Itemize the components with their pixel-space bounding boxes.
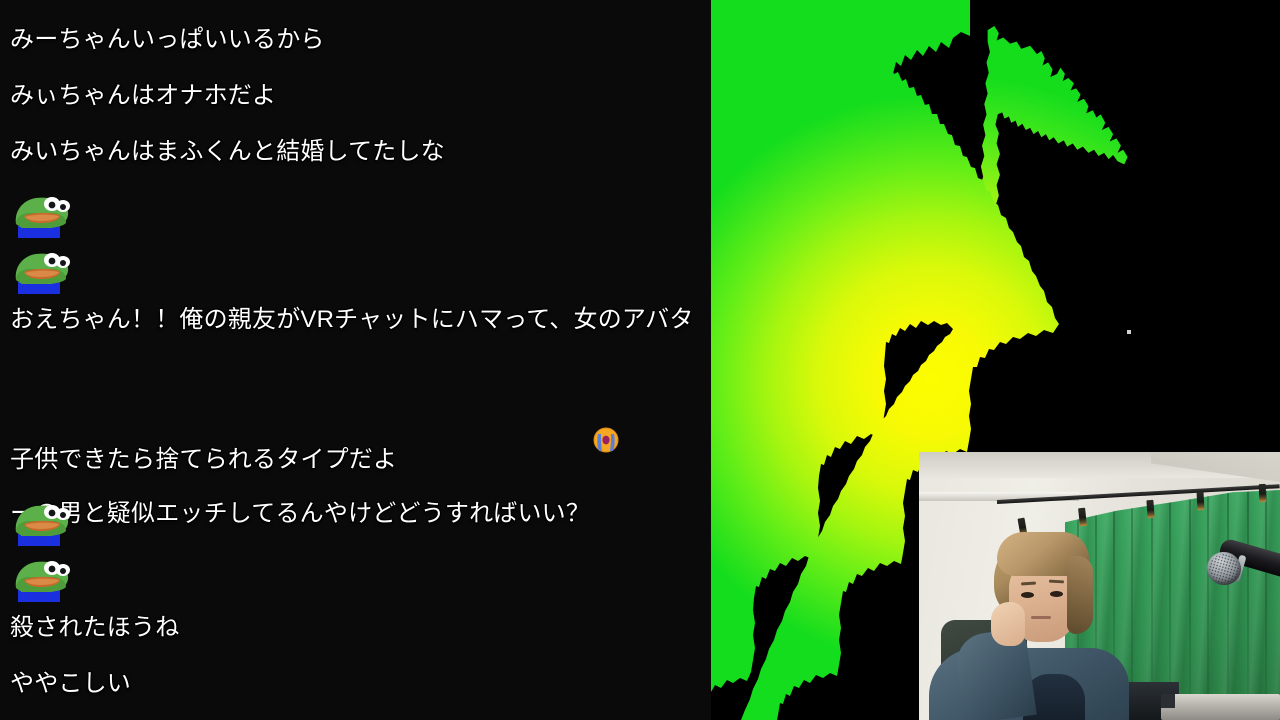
clothespin-icon (1146, 500, 1154, 518)
chat-message: みぃちゃんはオナホだよ (10, 74, 700, 117)
chat-message: 子供できたら捨てられるタイプだよ (10, 438, 700, 481)
chat-message: おえちゃん！！俺の親友がVRチャットにハマって、女のアバターの男と疑似エッチして… (10, 298, 700, 535)
desk-object (1161, 694, 1280, 720)
clothespin-icon (1197, 492, 1205, 510)
streamer-hand (991, 602, 1025, 646)
pepe-frog-icon (10, 190, 72, 238)
map-island-dot (1127, 330, 1131, 334)
streamer-hair-side (1067, 556, 1093, 634)
chat-panel: みーちゃんいっぱいいるから みぃちゃんはオナホだよ みいちゃんはまふくんと結婚し… (0, 0, 711, 720)
chat-message-text: おえちゃん！！俺の親友がVRチャットにハマって、女のアバターの男と疑似エッチして… (10, 306, 694, 527)
mouth (1031, 616, 1051, 619)
pepe-frog-icon (10, 554, 72, 602)
pepe-frog-icon (10, 498, 72, 546)
pepe-frog-icon (10, 246, 72, 294)
stream-capture-canvas: みーちゃんいっぱいいるから みぃちゃんはオナホだよ みいちゃんはまふくんと結婚し… (0, 0, 1280, 720)
clothespin-icon (1259, 484, 1267, 502)
eye (1050, 591, 1063, 597)
desk-object-corner (1161, 694, 1175, 708)
webcam-overlay[interactable] (919, 452, 1280, 720)
loudly-crying-face-icon (593, 341, 619, 367)
chat-message: 殺されたほうね (10, 606, 700, 649)
chat-message: みーちゃんいっぱいいるから (10, 18, 700, 61)
chat-message: みいちゃんはまふくんと結婚してたしな (10, 130, 700, 173)
chat-message: ややこしい (10, 662, 700, 705)
eye (1021, 592, 1034, 598)
